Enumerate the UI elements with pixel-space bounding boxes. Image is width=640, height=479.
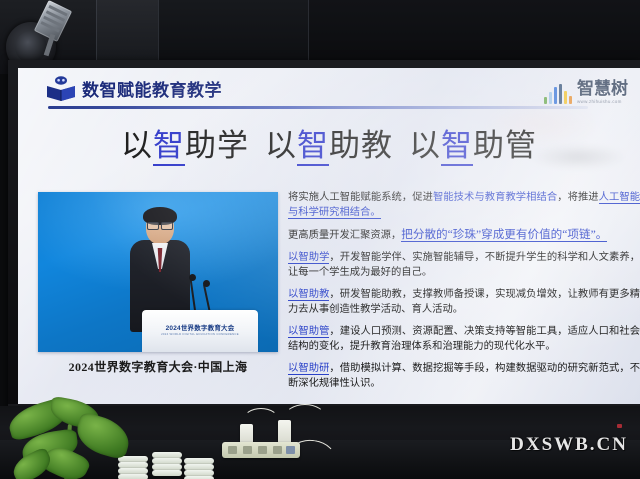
podium-title-en: 2024 WORLD DIGITAL EDUCATION CONFERENCE: [142, 332, 258, 336]
text-run: ，借助模拟计算、数据挖掘等手段，构建数据驱动的研究新范式，不断深化规律性认识。: [288, 363, 640, 389]
plant-leaf: [72, 411, 134, 460]
slide-header-rule: [48, 106, 588, 109]
power-strip: [222, 442, 300, 458]
photo-caption: 2024世界数字教育大会·中国上海: [38, 358, 278, 375]
slide-title: 以智助学以智助教以智助管: [18, 120, 640, 165]
text-run: 将实施人工智能赋能系统，促进: [288, 192, 433, 203]
text-run: ，开发智能学伴、实施智能辅导，不断提升学生的科学和人文素养，让每一个学生成为最好…: [288, 252, 640, 278]
presentation-screen: 数智赋能教育教学 智慧树 www.zhihuishu.com 以智助: [18, 68, 640, 406]
conference-photo: 2024世界数字教育大会 2024 WORLD DIGITAL EDUCATIO…: [38, 192, 278, 352]
text-run: 更高质量开发汇聚资源，: [288, 230, 401, 241]
brand-bars-icon: [544, 84, 572, 104]
title-highlight-char: 智: [297, 128, 329, 166]
title-segment: 以智助管: [409, 128, 537, 166]
screenshot-root: 数智赋能教育教学 智慧树 www.zhihuishu.com 以智助: [0, 0, 640, 479]
slide-body-text: 将实施人工智能赋能系统，促进智能技术与教育教学相结合，将推进人工智能与科学研究相…: [288, 190, 640, 398]
open-book-icon: [46, 76, 76, 102]
body-paragraph: 以智助管，建设人口预测、资源配置、决策支持等智能工具，适应人口和社会结构的变化，…: [288, 324, 640, 354]
podium-title-zh: 2024世界数字教育大会: [142, 322, 258, 332]
glasses-icon: [147, 222, 173, 228]
podium: 2024世界数字教育大会 2024 WORLD DIGITAL EDUCATIO…: [142, 310, 258, 352]
tv-power-indicator: [617, 424, 622, 428]
highlight-run: 以智助管: [288, 326, 329, 338]
potted-plant: [14, 398, 142, 479]
body-paragraph: 以智助教，研发智能助教，支撑教师备授课，实现减负增效，让教师有更多精力去从事创造…: [288, 287, 640, 317]
brand-logo: 智慧树 www.zhihuishu.com: [544, 74, 628, 104]
body-paragraph: 以智助学，开发智能学伴、实施智能辅导，不断提升学生的科学和人文素养，让每一个学生…: [288, 250, 640, 280]
body-paragraph: 更高质量开发汇聚资源，把分散的“珍珠”穿成更有价值的“项链”。: [288, 227, 640, 243]
text-run: ，将推进: [557, 192, 598, 203]
title-highlight-char: 智: [153, 128, 185, 166]
watermark: DXSWB.CN: [510, 434, 628, 456]
title-segment: 以智助教: [265, 128, 393, 166]
brand-url: www.zhihuishu.com: [577, 99, 622, 104]
slide-header: 数智赋能教育教学 智慧树 www.zhihuishu.com: [18, 68, 640, 110]
cup-lid-stack: [152, 452, 182, 477]
highlight-run: 智能技术与教育教学相结合: [433, 192, 557, 203]
body-paragraph: 将实施人工智能赋能系统，促进智能技术与教育教学相结合，将推进人工智能与科学研究相…: [288, 190, 640, 220]
highlight-run: 以智助教: [288, 289, 329, 301]
cup-lid-stack: [184, 458, 214, 479]
microphone-head: [189, 274, 196, 281]
microphone-head: [203, 280, 210, 287]
slide-header-title: 数智赋能教育教学: [82, 76, 222, 101]
brand-name: 智慧树: [577, 80, 628, 97]
body-paragraph: 以智助研，借助模拟计算、数据挖掘等手段，构建数据驱动的研究新范式，不断深化规律性…: [288, 361, 640, 391]
title-highlight-char: 智: [441, 128, 473, 166]
highlight-run: 以智助研: [288, 363, 329, 375]
highlight-run: 把分散的“珍珠”穿成更有价值的“项链”。: [401, 228, 607, 242]
text-run: ，研发智能助教，支撑教师备授课，实现减负增效，让教师有更多精力去从事创造性教学活…: [288, 289, 640, 315]
title-segment: 以智助学: [121, 128, 249, 166]
highlight-run: 以智助学: [288, 252, 329, 264]
text-run: ，建设人口预测、资源配置、决策支持等智能工具，适应人口和社会结构的变化，提升教育…: [288, 326, 640, 352]
